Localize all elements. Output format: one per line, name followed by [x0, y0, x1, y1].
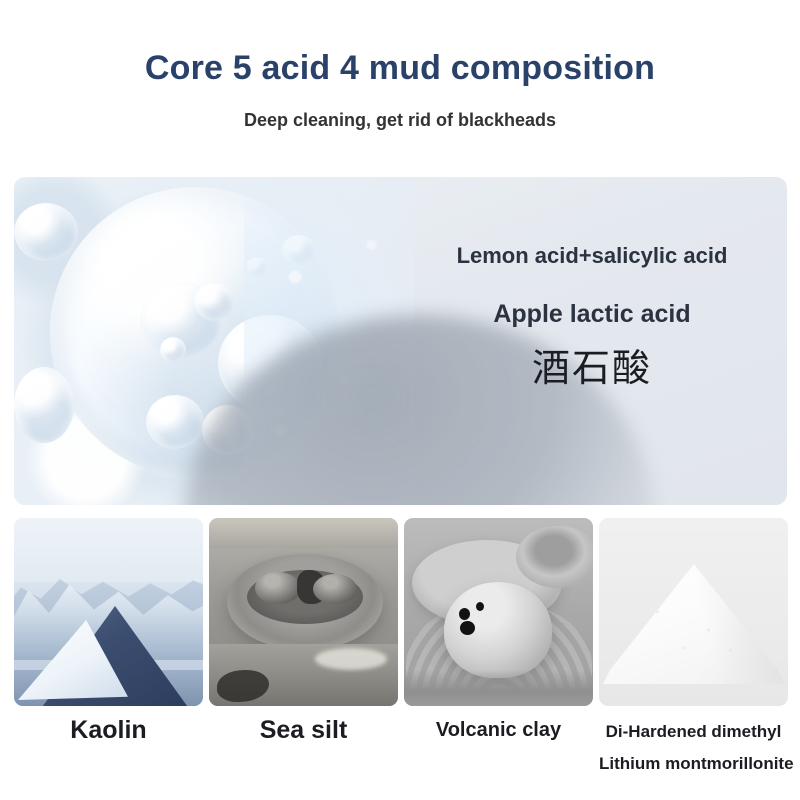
mud-pool-photo	[209, 518, 398, 706]
mud-bubble-shape	[313, 574, 357, 604]
ingredient-label-sea-silt: Sea silt	[209, 716, 398, 796]
powder-shading-overlay	[603, 564, 785, 684]
clay-vent-hole-shape	[476, 602, 484, 611]
ingredient-caption-row: Kaolin Sea silt Volcanic clay Di-Hardene…	[14, 716, 787, 796]
clay-ring-shape	[516, 526, 593, 588]
hero-ingredient-line-3: 酒石酸	[427, 332, 757, 392]
bubble-shape	[14, 367, 74, 443]
ingredient-label-dimethyl-line-1: Di-Hardened dimethyl	[606, 722, 782, 741]
header: Core 5 acid 4 mud composition Deep clean…	[0, 0, 800, 133]
bubble-shape	[146, 395, 204, 449]
page-title: Core 5 acid 4 mud composition	[0, 46, 800, 90]
hero-text-block: Lemon acid+salicylic acid Apple lactic a…	[427, 239, 757, 392]
ingredient-label-volcanic-clay: Volcanic clay	[404, 716, 593, 796]
volcanic-clay-photo	[404, 518, 593, 706]
bubble-shape	[14, 203, 78, 261]
ingredient-thumbnail-row	[14, 518, 787, 706]
bubble-shape	[160, 337, 186, 363]
hero-ingredient-line-1: Lemon acid+salicylic acid	[427, 239, 757, 273]
clay-foreground-region	[404, 670, 593, 706]
white-powder-photo	[599, 518, 788, 706]
far-ground-region	[209, 518, 398, 548]
clay-vent-hole-shape	[460, 621, 475, 635]
clay-vent-hole-shape	[459, 608, 470, 620]
hero-ingredient-line-2: Apple lactic acid	[427, 273, 757, 332]
hero-panel: Lemon acid+salicylic acid Apple lactic a…	[14, 177, 787, 505]
ingredient-label-dimethyl: Di-Hardened dimethyl Lithium montmorillo…	[599, 716, 788, 796]
mud-bubble-shape	[255, 572, 301, 604]
mud-highlight-shape	[315, 648, 387, 670]
page-subtitle: Deep cleaning, get rid of blackheads	[0, 90, 800, 133]
ingredient-label-dimethyl-line-2: Lithium montmorillonite	[599, 748, 788, 780]
sky-region	[14, 518, 203, 582]
snow-mountain-photo	[14, 518, 203, 706]
bubble-shape	[194, 283, 234, 321]
ingredient-label-kaolin: Kaolin	[14, 716, 203, 796]
